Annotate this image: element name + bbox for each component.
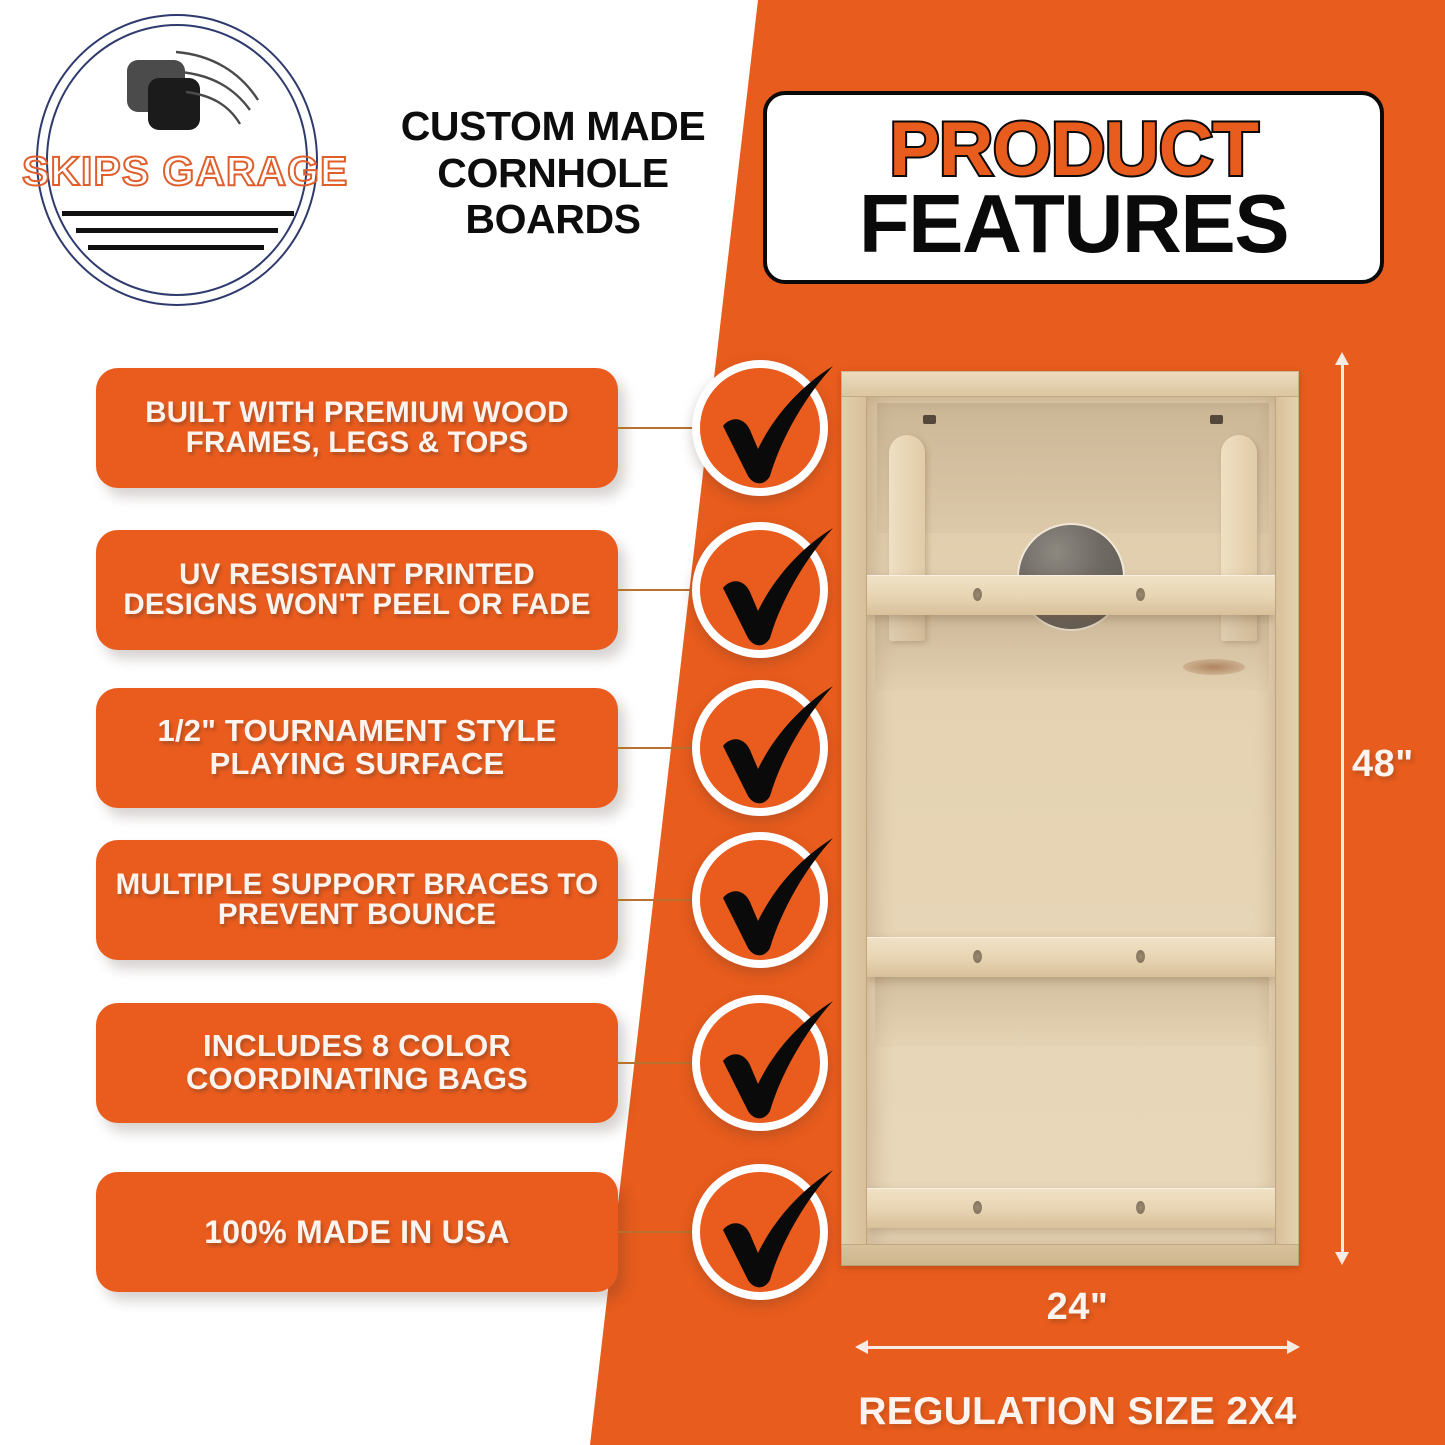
feature-check-badge-1 bbox=[692, 360, 828, 496]
badge-line-product: PRODUCT bbox=[889, 113, 1258, 187]
checkmark-icon bbox=[694, 826, 844, 976]
feature-check-badge-5 bbox=[692, 995, 828, 1131]
feature-pill-1[interactable]: BUILT WITH PREMIUM WOOD FRAMES, LEGS & T… bbox=[96, 368, 618, 488]
width-dimension-label: 24" bbox=[855, 1286, 1300, 1329]
feature-pill-3[interactable]: 1/2" TOURNAMENT STYLE PLAYING SURFACE bbox=[96, 688, 618, 808]
frame-rail-bottom bbox=[841, 1244, 1299, 1266]
board-underside-cavity bbox=[867, 397, 1275, 1244]
cornhole-board-photo bbox=[841, 371, 1299, 1266]
feature-row: 1/2" TOURNAMENT STYLE PLAYING SURFACE bbox=[96, 688, 836, 808]
checkmark-icon bbox=[694, 989, 844, 1139]
feature-check-badge-3 bbox=[692, 680, 828, 816]
badge-line-features: FEATURES bbox=[859, 183, 1288, 264]
support-brace-bottom bbox=[867, 1188, 1275, 1228]
dimension-shaft bbox=[1341, 360, 1344, 1257]
arrow-head-down-icon bbox=[1335, 1252, 1349, 1265]
motion-arcs-icon bbox=[172, 48, 272, 136]
checkmark-icon bbox=[694, 354, 844, 504]
screw-icon bbox=[973, 588, 982, 601]
dimension-shaft bbox=[864, 1346, 1291, 1349]
screw-icon bbox=[1136, 1201, 1145, 1214]
cavity-mid-shadow bbox=[875, 615, 1269, 691]
regulation-size-note: REGULATION SIZE 2X4 bbox=[815, 1390, 1340, 1434]
logo-rule-1 bbox=[62, 211, 294, 216]
logo-rule-3 bbox=[88, 245, 264, 250]
feature-row: UV RESISTANT PRINTED DESIGNS WON'T PEEL … bbox=[96, 530, 836, 650]
feature-label: MULTIPLE SUPPORT BRACES TO PREVENT BOUNC… bbox=[112, 870, 602, 930]
checkmark-icon bbox=[694, 516, 844, 666]
feature-row: BUILT WITH PREMIUM WOOD FRAMES, LEGS & T… bbox=[96, 368, 836, 488]
page-title: CUSTOM MADE CORNHOLE BOARDS bbox=[352, 103, 754, 243]
product-features-badge: PRODUCT FEATURES bbox=[763, 91, 1384, 284]
logo-rule-2 bbox=[76, 228, 278, 233]
leg-bolt-left-icon bbox=[923, 415, 936, 424]
feature-label: 1/2" TOURNAMENT STYLE PLAYING SURFACE bbox=[112, 715, 602, 781]
feature-pill-4[interactable]: MULTIPLE SUPPORT BRACES TO PREVENT BOUNC… bbox=[96, 840, 618, 960]
feature-pill-6[interactable]: 100% MADE IN USA bbox=[96, 1172, 618, 1292]
frame-rail-right bbox=[1275, 371, 1299, 1266]
feature-label: 100% MADE IN USA bbox=[204, 1216, 510, 1249]
frame-rail-left bbox=[841, 371, 867, 1266]
wood-knot bbox=[1183, 659, 1245, 675]
width-dimension-arrow bbox=[855, 1344, 1300, 1350]
cavity-lower-shadow bbox=[875, 977, 1269, 1047]
feature-label: INCLUDES 8 COLOR COORDINATING BAGS bbox=[112, 1030, 602, 1096]
feature-pill-2[interactable]: UV RESISTANT PRINTED DESIGNS WON'T PEEL … bbox=[96, 530, 618, 650]
support-brace-top bbox=[867, 575, 1275, 615]
checkmark-icon bbox=[694, 674, 844, 824]
brand-logo[interactable]: SKIPS GARAGE bbox=[22, 8, 332, 308]
screw-icon bbox=[1136, 588, 1145, 601]
support-brace-middle bbox=[867, 937, 1275, 977]
logo-wordmark: SKIPS GARAGE bbox=[22, 148, 332, 195]
feature-label: UV RESISTANT PRINTED DESIGNS WON'T PEEL … bbox=[112, 560, 602, 620]
screw-icon bbox=[973, 1201, 982, 1214]
frame-rail-top bbox=[841, 371, 1299, 397]
feature-label: BUILT WITH PREMIUM WOOD FRAMES, LEGS & T… bbox=[112, 398, 602, 458]
feature-row: INCLUDES 8 COLOR COORDINATING BAGS bbox=[96, 1003, 836, 1123]
feature-check-badge-6 bbox=[692, 1164, 828, 1300]
height-dimension-label: 48" bbox=[1352, 743, 1414, 786]
screw-icon bbox=[973, 950, 982, 963]
feature-row: 100% MADE IN USA bbox=[96, 1172, 836, 1292]
checkmark-icon bbox=[694, 1158, 844, 1308]
leg-bolt-right-icon bbox=[1210, 415, 1223, 424]
screw-icon bbox=[1136, 950, 1145, 963]
feature-check-badge-2 bbox=[692, 522, 828, 658]
feature-row: MULTIPLE SUPPORT BRACES TO PREVENT BOUNC… bbox=[96, 840, 836, 960]
arrow-head-right-icon bbox=[1287, 1340, 1300, 1354]
infographic-page: SKIPS GARAGE CUSTOM MADE CORNHOLE BOARDS… bbox=[0, 0, 1445, 1445]
height-dimension-arrow bbox=[1339, 352, 1345, 1265]
feature-pill-5[interactable]: INCLUDES 8 COLOR COORDINATING BAGS bbox=[96, 1003, 618, 1123]
feature-check-badge-4 bbox=[692, 832, 828, 968]
